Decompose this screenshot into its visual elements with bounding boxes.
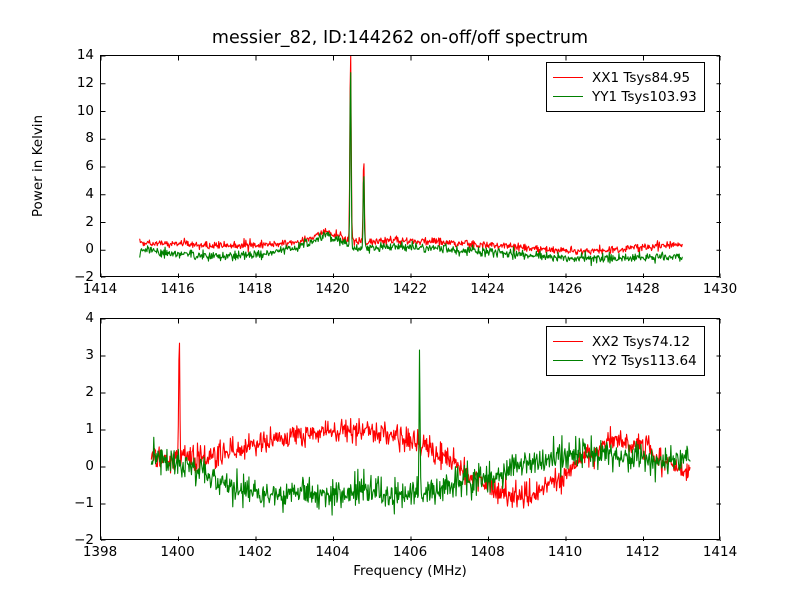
- x-tick-label: 1416: [160, 281, 194, 297]
- y-tick-label: 3: [52, 347, 94, 363]
- x-tick-label: 1410: [548, 544, 582, 560]
- x-tick-label: 1404: [315, 544, 349, 560]
- bottom-legend: XX2 Tsys74.12YY2 Tsys113.64: [546, 326, 705, 376]
- legend-color-swatch: [553, 77, 583, 78]
- x-tick-label: 1422: [393, 281, 427, 297]
- x-tick-label: 1402: [238, 544, 272, 560]
- x-tick-label: 1424: [470, 281, 504, 297]
- page-title: messier_82, ID:144262 on-off/off spectru…: [0, 28, 800, 48]
- spectrum-figure: messier_82, ID:144262 on-off/off spectru…: [0, 0, 800, 600]
- bottom-x-axis-label: Frequency (MHz): [100, 563, 720, 579]
- legend-label: YY2 Tsys113.64: [592, 353, 697, 369]
- x-tick-label: 1428: [625, 281, 659, 297]
- legend-item: XX2 Tsys74.12: [553, 332, 697, 351]
- y-tick-label: −1: [52, 495, 94, 511]
- y-tick-label: 0: [52, 241, 94, 257]
- legend-label: XX2 Tsys74.12: [592, 334, 690, 350]
- x-tick-label: 1400: [160, 544, 194, 560]
- y-tick-label: 2: [52, 214, 94, 230]
- y-tick-label: 12: [52, 75, 94, 91]
- y-tick-label: 0: [52, 458, 94, 474]
- x-tick-label: 1414: [703, 544, 737, 560]
- y-tick-label: 14: [52, 47, 94, 63]
- legend-color-swatch: [553, 341, 583, 342]
- top-legend: XX1 Tsys84.95YY1 Tsys103.93: [546, 62, 705, 112]
- legend-label: XX1 Tsys84.95: [592, 70, 690, 86]
- legend-color-swatch: [553, 96, 583, 97]
- x-tick-label: 1430: [703, 281, 737, 297]
- x-tick-label: 1420: [315, 281, 349, 297]
- y-tick-label: −2: [52, 269, 94, 285]
- x-tick-label: 1426: [548, 281, 582, 297]
- y-tick-label: 4: [52, 310, 94, 326]
- legend-label: YY1 Tsys103.93: [592, 89, 697, 105]
- y-tick-label: 6: [52, 158, 94, 174]
- y-tick-label: −2: [52, 532, 94, 548]
- x-tick-label: 1418: [238, 281, 272, 297]
- y-tick-label: 1: [52, 421, 94, 437]
- x-tick-label: 1412: [625, 544, 659, 560]
- y-tick-label: 10: [52, 103, 94, 119]
- legend-color-swatch: [553, 360, 583, 361]
- legend-item: XX1 Tsys84.95: [553, 68, 697, 87]
- y-tick-label: 4: [52, 186, 94, 202]
- y-tick-label: 8: [52, 130, 94, 146]
- legend-item: YY2 Tsys113.64: [553, 351, 697, 370]
- x-tick-label: 1406: [393, 544, 427, 560]
- y-tick-label: 2: [52, 384, 94, 400]
- x-tick-label: 1408: [470, 544, 504, 560]
- top-y-axis-label: Power in Kelvin: [30, 115, 46, 217]
- legend-item: YY1 Tsys103.93: [553, 87, 697, 106]
